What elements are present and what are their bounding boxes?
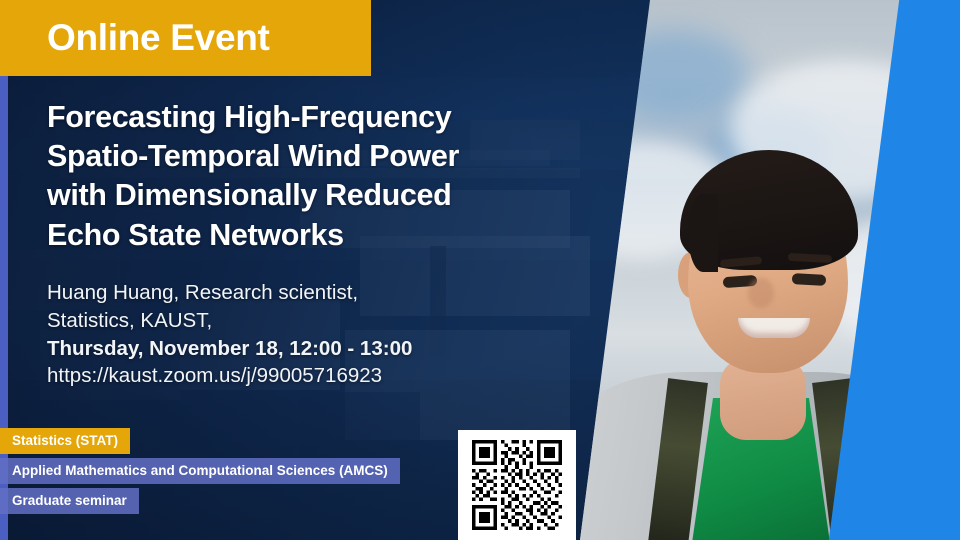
speaker-affiliation: Statistics, KAUST, xyxy=(47,307,567,335)
tag-list: Statistics (STAT) Applied Mathematics an… xyxy=(0,428,400,518)
text-content: Forecasting High-Frequency Spatio-Tempor… xyxy=(47,98,567,390)
photo-nose xyxy=(748,278,774,308)
qr-code-icon[interactable] xyxy=(472,440,562,530)
speaker-name-role: Huang Huang, Research scientist, xyxy=(47,279,567,307)
online-event-label: Online Event xyxy=(0,17,270,59)
tag-statistics[interactable]: Statistics (STAT) xyxy=(0,428,130,454)
tag-amcs[interactable]: Applied Mathematics and Computational Sc… xyxy=(0,458,400,484)
event-datetime: Thursday, November 18, 12:00 - 13:00 xyxy=(47,335,567,363)
photo-smile xyxy=(738,318,810,338)
zoom-link[interactable]: https://kaust.zoom.us/j/99005716923 xyxy=(47,362,567,390)
qr-code-panel[interactable] xyxy=(458,430,576,540)
speaker-details: Huang Huang, Research scientist, Statist… xyxy=(47,279,567,391)
tag-graduate-seminar[interactable]: Graduate seminar xyxy=(0,488,139,514)
online-event-banner: Online Event xyxy=(0,0,371,76)
talk-title: Forecasting High-Frequency Spatio-Tempor… xyxy=(47,98,567,255)
event-poster: Online Event Forecasting High-Frequency … xyxy=(0,0,960,540)
